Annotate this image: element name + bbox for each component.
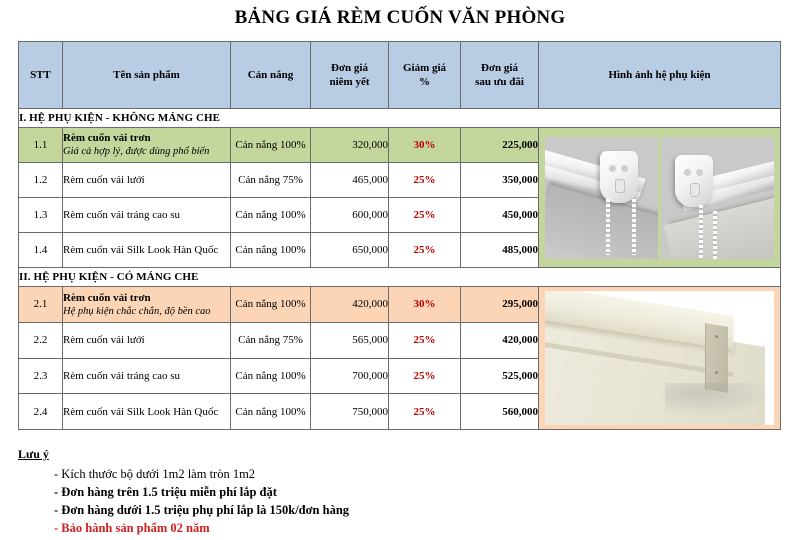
cell-name: Rèm cuốn vải trơn Hệ phụ kiện chắc chắn,… [63,287,231,323]
column-header-discount-line2: % [419,76,430,88]
cell-final-price: 350,000 [461,163,539,198]
section-heading-1: I. HỆ PHỤ KIỆN - KHÔNG MÁNG CHE [19,109,781,128]
table-row: 2.1 Rèm cuốn vải trơn Hệ phụ kiện chắc c… [19,287,781,323]
cell-final-price: 225,000 [461,128,539,163]
cell-discount: 25% [389,163,461,198]
cell-price: 700,000 [311,358,389,394]
cell-price: 750,000 [311,394,389,430]
cell-name: Rèm cuốn vải lưới [63,322,231,358]
cell-price: 600,000 [311,198,389,233]
cell-weight: Cản nắng 100% [231,358,311,394]
column-header-stt: STT [19,42,63,109]
note-item-4: - Bảo hành sản phẩm 02 năm [18,519,758,537]
cell-price: 465,000 [311,163,389,198]
cell-final-price: 485,000 [461,233,539,268]
product-name: Rèm cuốn vải trơn [63,291,230,305]
cell-name: Rèm cuốn vải tráng cao su [63,198,231,233]
product-name: Rèm cuốn vải lưới [63,173,230,187]
notes-title: Lưu ý [18,447,758,462]
column-header-price-line1: Đơn giá [331,62,368,74]
product-name: Rèm cuốn vải Silk Look Hàn Quốc [63,405,230,419]
cell-stt: 1.2 [19,163,63,198]
cell-discount: 25% [389,322,461,358]
column-header-name: Tên sản phẩm [63,42,231,109]
product-name: Rèm cuốn vải tráng cao su [63,369,230,383]
product-name: Rèm cuốn vải tráng cao su [63,208,230,222]
cell-name: Rèm cuốn vải tráng cao su [63,358,231,394]
cell-final-price: 295,000 [461,287,539,323]
section-heading-2: II. HỆ PHỤ KIỆN - CÓ MÁNG CHE [19,268,781,287]
cell-price: 565,000 [311,322,389,358]
column-header-price: Đơn giá niêm yết [311,42,389,109]
price-table-container: STT Tên sản phẩm Cản nắng Đơn giá niêm y… [18,41,780,430]
valance-cassette-photo [545,291,774,425]
column-header-discount-line1: Giảm giá [403,62,446,74]
cell-image-section-2 [539,287,781,430]
price-table: STT Tên sản phẩm Cản nắng Đơn giá niêm y… [18,41,781,430]
cell-weight: Cản nắng 100% [231,233,311,268]
cell-weight: Cản nắng 100% [231,128,311,163]
cell-weight: Cản nắng 100% [231,287,311,323]
column-header-final: Đơn giá sau ưu đãi [461,42,539,109]
cell-final-price: 560,000 [461,394,539,430]
product-subtitle: Hệ phụ kiện chắc chắn, độ bền cao [63,305,230,318]
cell-price: 420,000 [311,287,389,323]
bracket-photos [539,133,780,263]
cell-stt: 2.2 [19,322,63,358]
column-header-final-line2: sau ưu đãi [475,76,524,88]
cell-discount: 25% [389,198,461,233]
note-item-3: - Đơn hàng dưới 1.5 triệu phụ phí lắp là… [18,501,758,519]
header-row: STT Tên sản phẩm Cản nắng Đơn giá niêm y… [19,42,781,109]
notes-section: Lưu ý - Kích thước bộ dưới 1m2 làm tròn … [18,447,758,538]
table-header: STT Tên sản phẩm Cản nắng Đơn giá niêm y… [19,42,781,109]
cell-name: Rèm cuốn vải lưới [63,163,231,198]
cell-price: 320,000 [311,128,389,163]
column-header-price-line2: niêm yết [329,76,369,88]
roller-blind-bracket-photo-left [545,137,658,259]
cell-stt: 1.4 [19,233,63,268]
cell-weight: Cản nắng 75% [231,322,311,358]
cell-price: 650,000 [311,233,389,268]
section-heading-row: II. HỆ PHỤ KIỆN - CÓ MÁNG CHE [19,268,781,287]
cell-discount: 25% [389,358,461,394]
column-header-discount: Giảm giá % [389,42,461,109]
cell-weight: Cản nắng 100% [231,198,311,233]
product-name: Rèm cuốn vải Silk Look Hàn Quốc [63,243,230,257]
cell-final-price: 525,000 [461,358,539,394]
cell-image-section-1 [539,128,781,268]
page-title: BẢNG GIÁ RÈM CUỐN VĂN PHÒNG [0,0,800,30]
cell-weight: Cản nắng 75% [231,163,311,198]
cell-stt: 2.3 [19,358,63,394]
cell-discount: 25% [389,233,461,268]
cell-stt: 1.3 [19,198,63,233]
note-item-2: - Đơn hàng trên 1.5 triệu miễn phí lắp đ… [18,483,758,501]
product-name: Rèm cuốn vải trơn [63,131,230,145]
note-item-1: - Kích thước bộ dưới 1m2 làm tròn 1m2 [18,465,758,483]
section-heading-row: I. HỆ PHỤ KIỆN - KHÔNG MÁNG CHE [19,109,781,128]
cell-name: Rèm cuốn vải Silk Look Hàn Quốc [63,233,231,268]
table-row: 1.1 Rèm cuốn vải trơn Giá cả hợp lý, đượ… [19,128,781,163]
cell-name: Rèm cuốn vải Silk Look Hàn Quốc [63,394,231,430]
cell-stt: 2.1 [19,287,63,323]
cell-name: Rèm cuốn vải trơn Giá cả hợp lý, được dù… [63,128,231,163]
valance-photo-wrap [539,287,780,429]
table-body: I. HỆ PHỤ KIỆN - KHÔNG MÁNG CHE 1.1 Rèm … [19,109,781,430]
cell-discount: 30% [389,287,461,323]
cell-weight: Cản nắng 100% [231,394,311,430]
cell-stt: 1.1 [19,128,63,163]
cell-final-price: 450,000 [461,198,539,233]
cell-final-price: 420,000 [461,322,539,358]
column-header-final-line1: Đơn giá [481,62,518,74]
product-subtitle: Giá cả hợp lý, được dùng phổ biến [63,145,230,158]
cell-discount: 25% [389,394,461,430]
product-name: Rèm cuốn vải lưới [63,333,230,347]
cell-discount: 30% [389,128,461,163]
column-header-weight: Cản nắng [231,42,311,109]
roller-blind-bracket-photo-right [661,137,774,259]
column-header-image: Hình ảnh hệ phụ kiện [539,42,781,109]
cell-stt: 2.4 [19,394,63,430]
